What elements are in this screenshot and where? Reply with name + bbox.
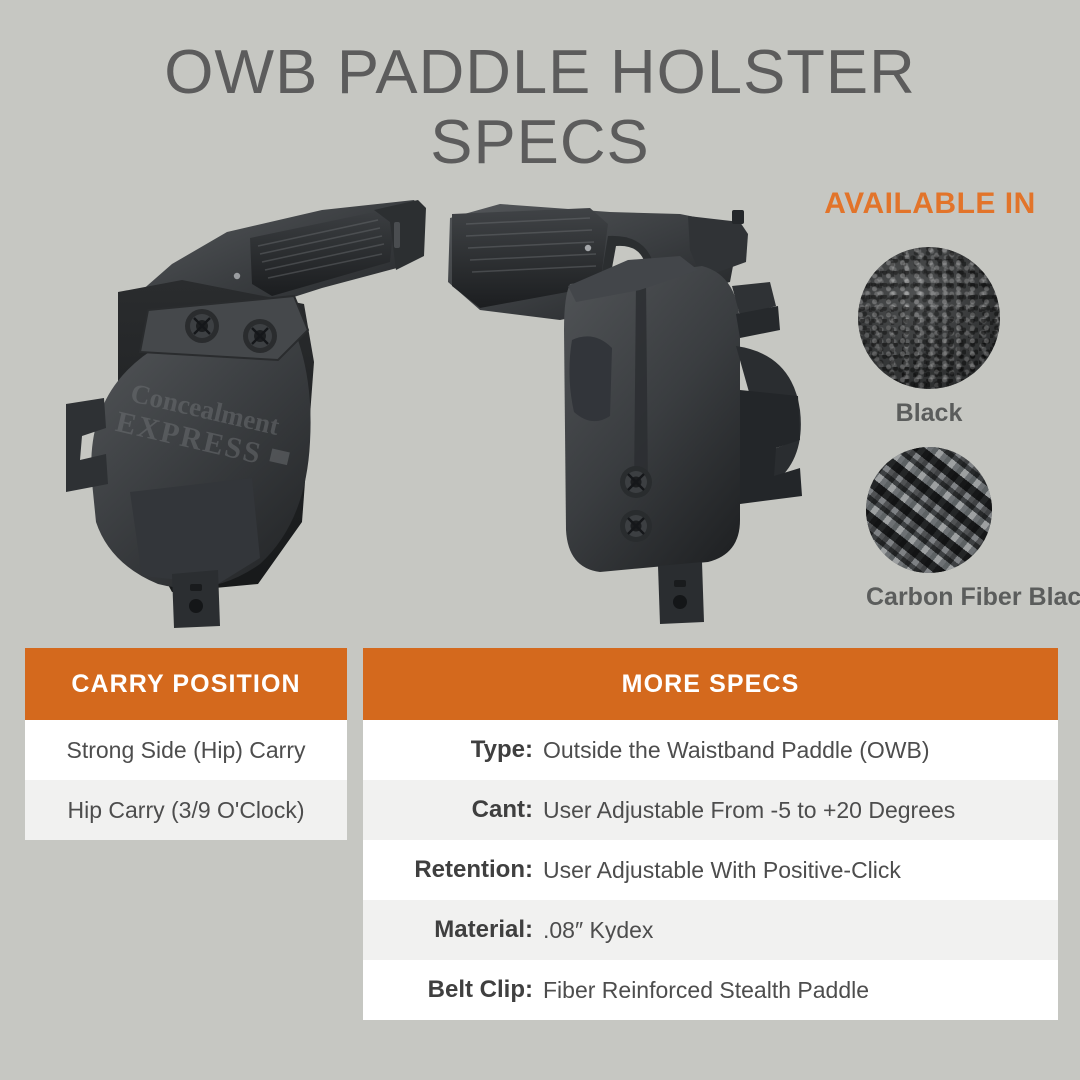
carbon-fiber-swatch[interactable] (866, 447, 992, 573)
spec-value-material: .08″ Kydex (543, 900, 1058, 960)
table-row: Strong Side (Hip) Carry (25, 720, 347, 780)
available-in-heading: AVAILABLE IN (790, 186, 1070, 222)
holster-photo-front-view (440, 190, 840, 630)
spec-value-retention: User Adjustable With Positive-Click (543, 840, 1058, 900)
more-specs-table: MORE SPECS Type: Outside the Waistband P… (363, 648, 1058, 1020)
table-row: Retention: User Adjustable With Positive… (363, 840, 1058, 900)
page-title-line-1: OWB PADDLE HOLSTER (0, 42, 1080, 104)
spec-label-belt-clip: Belt Clip: (363, 960, 543, 1020)
spec-label-cant: Cant: (363, 780, 543, 840)
swatch-label-black: Black (858, 399, 1000, 428)
swatch-label-carbon-fiber: Carbon Fiber Black (866, 583, 992, 612)
table-row: Material: .08″ Kydex (363, 900, 1058, 960)
table-row: Type: Outside the Waistband Paddle (OWB) (363, 720, 1058, 780)
color-option-carbon-fiber[interactable]: Carbon Fiber Black (866, 447, 992, 612)
more-specs-header: MORE SPECS (363, 648, 1058, 720)
spec-label-retention: Retention: (363, 840, 543, 900)
holster-photo-paddle-side: Concealment EXPRESS (22, 192, 442, 632)
spec-label-type: Type: (363, 720, 543, 780)
page-title-line-2: SPECS (0, 112, 1080, 174)
table-row: Belt Clip: Fiber Reinforced Stealth Padd… (363, 960, 1058, 1020)
table-row: Cant: User Adjustable From -5 to +20 Deg… (363, 780, 1058, 840)
stealth-paddle: Concealment EXPRESS (66, 296, 311, 628)
table-row: Hip Carry (3/9 O'Clock) (25, 780, 347, 840)
spec-value-type: Outside the Waistband Paddle (OWB) (543, 720, 1058, 780)
spec-label-material: Material: (363, 900, 543, 960)
available-in-section: AVAILABLE IN (790, 186, 1070, 222)
page-title: OWB PADDLE HOLSTER SPECS (0, 42, 1080, 174)
carry-position-header: CARRY POSITION (25, 648, 347, 720)
kydex-shell (564, 256, 802, 624)
carry-position-table: CARRY POSITION Strong Side (Hip) Carry H… (25, 648, 347, 840)
color-option-black[interactable]: Black (858, 247, 1000, 428)
spec-value-cant: User Adjustable From -5 to +20 Degrees (543, 780, 1058, 840)
spec-value-belt-clip: Fiber Reinforced Stealth Paddle (543, 960, 1058, 1020)
black-texture-swatch[interactable] (858, 247, 1000, 389)
